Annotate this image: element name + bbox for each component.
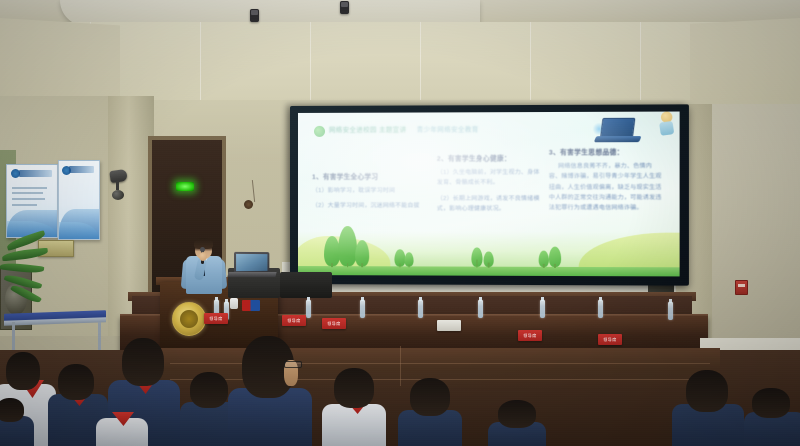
student-head [498,400,536,428]
wall-fixture [244,200,253,209]
name-placard: 领导席 [282,315,306,326]
slide-column-1-text: （1）影响学习，耽误学习时间 [312,186,431,196]
wall-tile-seam [200,22,201,108]
audience-student [398,380,462,446]
name-placard: 领导席 [322,318,346,329]
laptop-base [594,136,642,142]
dome-camera-icon [112,190,124,200]
student-head [334,368,374,408]
tree-icon [549,247,561,267]
tree-trunk [554,264,555,268]
wall-poster [6,164,58,238]
tree-trunk [362,263,363,267]
name-placard-label: 领导席 [209,316,223,322]
audience-student [96,400,148,446]
slide-column-3-heading: 3、有害学生思想品德： [549,146,664,156]
audience-student [322,368,386,446]
potted-plant [0,228,74,320]
laptop-keyboard[interactable] [227,272,276,277]
tree-trunk [476,260,477,268]
laptop-screen [236,254,267,271]
speaker-hand [199,252,207,261]
slide-column-1-heading: 1、有害学生全心学习 [312,171,431,181]
national-emblem-icon [172,302,206,336]
plant-leaf [0,261,44,274]
poster-text-line [12,204,37,206]
audience-student [488,402,546,446]
poster-heading [69,166,94,173]
student-head [6,352,40,390]
student-head [752,388,790,418]
name-placard-label: 领导席 [603,337,617,343]
water-bottle[interactable] [668,302,673,320]
tree-icon [539,251,549,267]
tree-trunk [543,264,544,268]
poster-text-line [12,187,47,189]
hill-shape [579,232,680,267]
projection-screen: 网络安全进校园 主题宣讲 青少年网络安全教育 1、有害学生全心学习 （1）影响学… [290,104,689,285]
poster-text-line [12,192,43,194]
student-head [686,370,728,412]
audience-student [0,400,34,446]
slide-column-1: 1、有害学生全心学习 （1）影响学习，耽误学习时间 （2）大量学习时间，沉迷网络… [312,171,431,217]
slide-column-3: 3、有害学生思想品德： 网络信息良莠不齐，暴力、色情内容、赌博诈骗，易引导青少年… [549,146,664,219]
name-placard-label: 领导席 [327,321,341,327]
student-head [410,378,450,416]
leaf-bullet-icon [314,126,325,137]
name-placard-label: 领导席 [523,333,537,339]
exit-sign-icon [176,182,194,191]
poster-text-line [12,198,45,200]
laptop-illustration-icon [593,116,651,147]
eyeglasses-icon [284,361,302,368]
tree-trunk [488,263,489,268]
name-placard [437,320,461,331]
fire-alarm-icon [735,280,748,295]
audience-student [744,390,800,446]
slide-title: 网络安全进校园 主题宣讲 青少年网络安全教育 [329,124,479,134]
presenter-laptop[interactable] [234,252,269,273]
water-bottle[interactable] [418,300,423,318]
poster-heading [19,170,52,176]
slide-column-2-heading: 2、有害学生身心健康： [437,153,543,163]
water-bottle[interactable] [540,300,545,318]
av-console [280,272,332,298]
name-placard-label: 领导席 [287,318,301,324]
camera-mount [116,180,119,190]
water-bottle[interactable] [306,300,311,318]
student-head [58,364,94,400]
tree-trunk [331,263,332,267]
audience-student [672,372,744,446]
ceiling-spotlight-icon [340,1,349,14]
desk-flag [242,300,260,311]
water-bottle[interactable] [360,300,365,318]
right-side-wall [712,104,800,354]
tree-icon [355,240,369,266]
illustration-body [659,121,674,136]
slide-title-secondary: 青少年网络安全教育 [417,126,479,133]
tree-icon [405,252,414,266]
name-placard: 领导席 [518,330,542,341]
lecture-hall-photo: 网络安全进校园 主题宣讲 青少年网络安全教育 1、有害学生全心学习 （1）影响学… [0,0,800,446]
wall-tile-seam [530,22,531,108]
paper-cup[interactable] [230,298,238,309]
audience-student [228,334,312,446]
name-placard: 领导席 [598,334,622,345]
tree-trunk [399,263,400,267]
presentation-slide: 网络安全进校园 主题宣讲 青少年网络安全教育 1、有害学生全心学习 （1）影响学… [298,112,680,277]
slide-column-1-text: （2）大量学习时间，沉迷网络不能自拔 [312,201,431,211]
tree-trunk [408,264,409,267]
slide-column-2-text: （2）长期上网游戏，诱发不良情绪模式，影响心理健康状况。 [437,194,543,215]
name-placard: 领导席 [204,313,228,324]
ceiling-spotlight-icon [250,9,259,22]
student-head [190,372,228,408]
water-bottle[interactable] [478,300,483,318]
wall-tile-seam [640,22,641,108]
student-head [122,338,164,386]
water-bottle[interactable] [598,300,603,318]
tree-icon [471,247,482,266]
tree-icon [484,252,494,267]
student-head [0,398,24,422]
slide-column-2: 2、有害学生身心健康： （1）久坐电脑前，对学生视力、身体发育、骨骼成长不利。 … [437,153,543,220]
student-illustration-icon [657,112,678,141]
slide-title-main: 网络安全进校园 主题宣讲 [329,127,406,134]
wall-tile-seam [420,22,421,108]
tree-trunk [347,263,348,267]
slide-column-3-text: 网络信息良莠不齐，暴力、色情内容、赌博诈骗，易引导青少年学生人生观扭曲，人生价值… [549,161,664,214]
wall-tile-seam [310,22,311,108]
slide-column-2-text: （1）久坐电脑前，对学生视力、身体发育、骨骼成长不利。 [437,168,543,189]
student-uniform [322,404,386,446]
